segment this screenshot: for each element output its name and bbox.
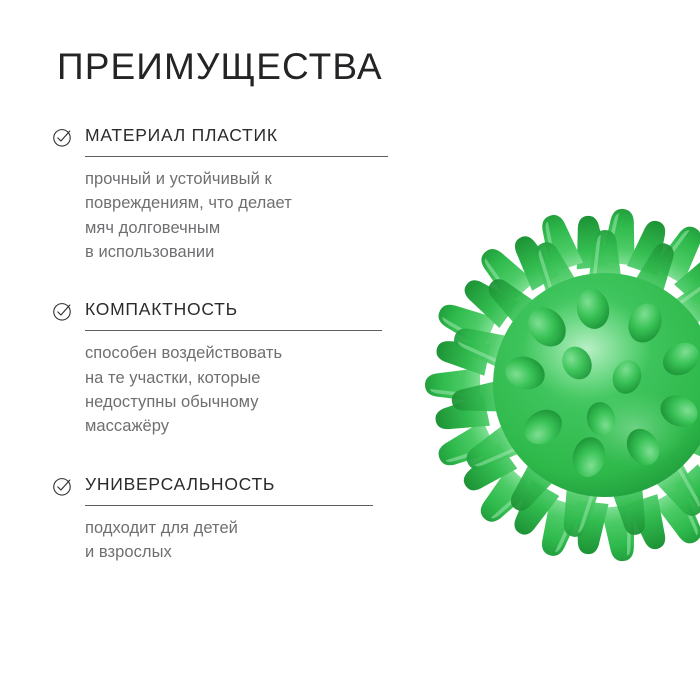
feature-item-material: МАТЕРИАЛ ПЛАСТИК прочный и устойчивый к …: [0, 124, 430, 264]
content-column: ПРЕИМУЩЕСТВА МАТЕРИАЛ ПЛАСТИК прочный и …: [0, 0, 430, 700]
feature-heading: УНИВЕРСАЛЬНОСТЬ: [85, 473, 430, 496]
feature-description: способен воздействовать на те участки, к…: [85, 341, 430, 439]
feature-item-universality: УНИВЕРСАЛЬНОСТЬ подходит для детей и взр…: [0, 473, 430, 565]
page-title: ПРЕИМУЩЕСТВА: [57, 48, 383, 87]
check-circle-icon: [52, 301, 73, 322]
check-circle-icon: [52, 127, 73, 148]
product-benefits-poster: ПРЕИМУЩЕСТВА МАТЕРИАЛ ПЛАСТИК прочный и …: [0, 0, 700, 700]
feature-description: прочный и устойчивый к повреждениям, что…: [85, 167, 430, 265]
features-list: МАТЕРИАЛ ПЛАСТИК прочный и устойчивый к …: [0, 124, 430, 564]
feature-description: подходит для детей и взрослых: [85, 516, 430, 565]
feature-divider: [85, 156, 388, 157]
feature-divider: [85, 505, 373, 506]
check-circle-icon: [52, 476, 73, 497]
feature-divider: [85, 330, 382, 331]
feature-heading: МАТЕРИАЛ ПЛАСТИК: [85, 124, 430, 147]
feature-heading: КОМПАКТНОСТЬ: [85, 298, 430, 321]
feature-item-compactness: КОМПАКТНОСТЬ способен воздействовать на …: [0, 298, 430, 438]
